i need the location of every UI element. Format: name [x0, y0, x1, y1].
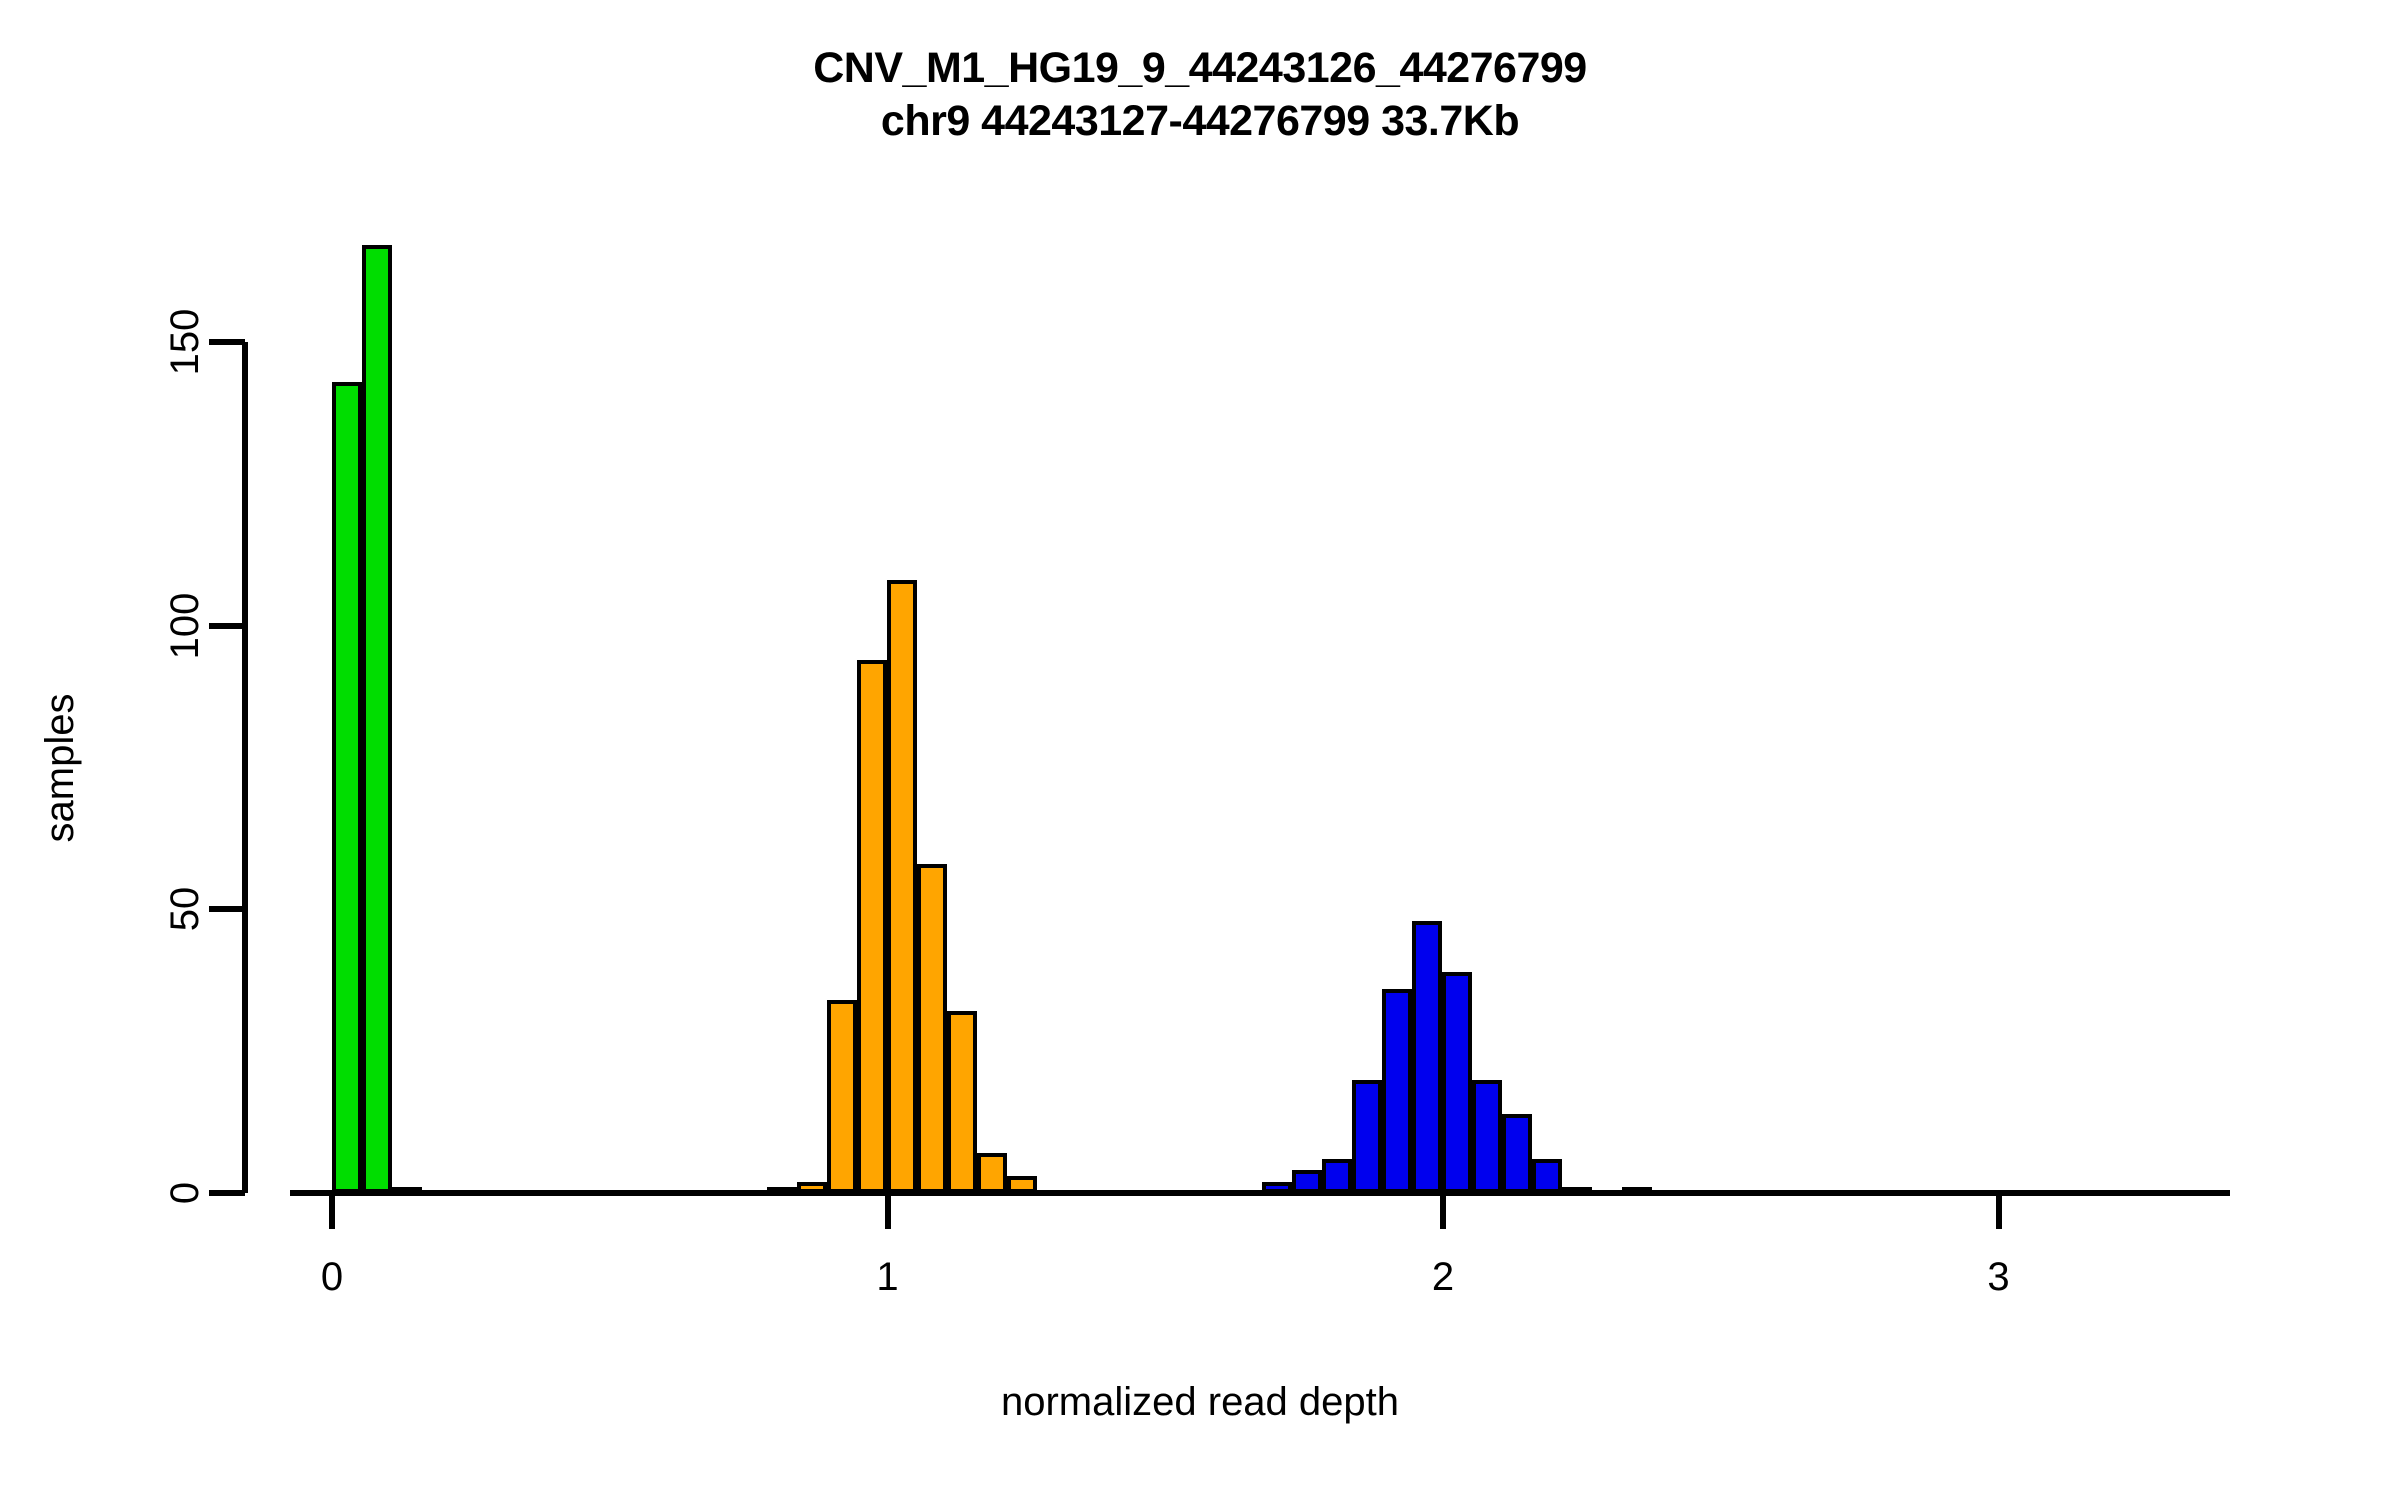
x-axis-tick-label: 2	[1383, 1255, 1503, 1300]
histogram-bar	[947, 1011, 977, 1193]
x-axis-tick-label: 3	[1939, 1255, 2059, 1300]
x-axis-tick-label: 0	[272, 1255, 392, 1300]
histogram-bar	[1352, 1080, 1382, 1193]
histogram-bar	[1532, 1159, 1562, 1193]
x-axis-title: normalized read depth	[0, 1380, 2400, 1425]
y-axis-tick-label: 150	[160, 282, 210, 402]
histogram-plot: CNV_M1_HG19_9_44243126_44276799 chr9 442…	[0, 0, 2400, 1500]
x-axis-tick	[1440, 1193, 1446, 1229]
histogram-bar	[1412, 921, 1442, 1193]
y-axis-line	[242, 342, 248, 1193]
histogram-bar	[887, 580, 917, 1193]
histogram-bar	[1382, 989, 1412, 1193]
y-axis-title: samples	[35, 618, 85, 918]
y-axis-tick-label: 50	[160, 849, 210, 969]
x-axis-line	[290, 1190, 2230, 1196]
y-axis-tick-label: 100	[160, 566, 210, 686]
histogram-bar	[977, 1153, 1007, 1193]
x-axis-tick	[329, 1193, 335, 1229]
histogram-bar	[332, 382, 362, 1193]
x-axis-tick-label: 1	[828, 1255, 948, 1300]
y-axis-tick-label: 0	[160, 1133, 210, 1253]
histogram-bar	[362, 245, 392, 1193]
histogram-bar	[1322, 1159, 1352, 1193]
histogram-bar	[917, 864, 947, 1193]
x-axis-tick	[885, 1193, 891, 1229]
y-axis-tick	[209, 1190, 245, 1196]
histogram-bar	[1502, 1114, 1532, 1193]
y-axis-tick	[209, 623, 245, 629]
histogram-bar	[857, 660, 887, 1193]
y-axis-tick	[209, 339, 245, 345]
histogram-bar	[1472, 1080, 1502, 1193]
histogram-bar	[1442, 972, 1472, 1193]
x-axis-tick	[1996, 1193, 2002, 1229]
y-axis-tick	[209, 906, 245, 912]
histogram-bar	[827, 1000, 857, 1193]
